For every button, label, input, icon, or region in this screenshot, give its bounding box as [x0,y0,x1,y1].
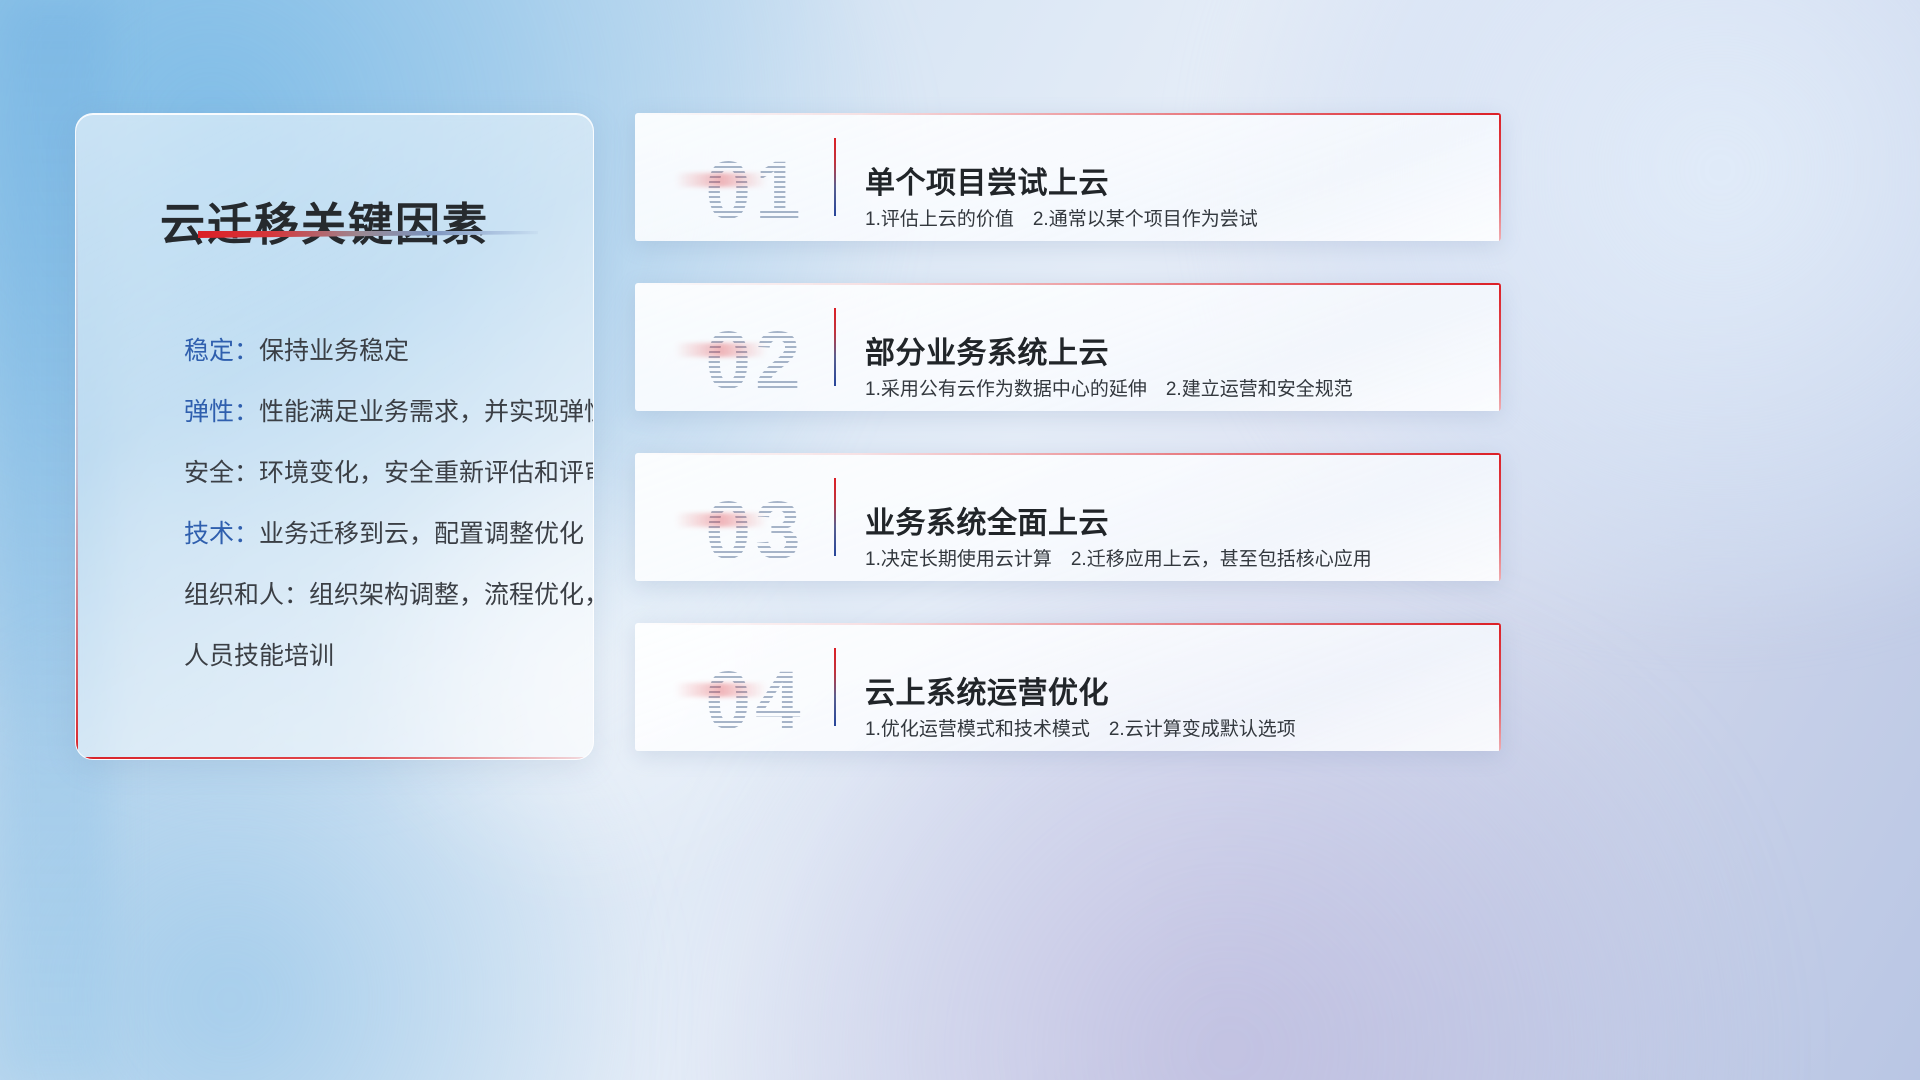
factor-text: 业务迁移到云，配置调整优化 [259,520,584,548]
card-divider-bar [834,478,836,556]
card-right-accent-line [1499,453,1501,581]
card-number: 04 [679,651,831,751]
card-number-decoration: 03 [657,467,809,567]
factor-label: 安全： [184,459,259,487]
factor-row: 技术：业务迁移到云，配置调整优化 [184,504,567,565]
card-number-decoration: 04 [657,637,809,737]
card-divider-bar [834,648,836,726]
factor-text: 性能满足业务需求，并实现弹性 [259,398,594,426]
factor-label: 稳定： [184,337,259,365]
stage-card[interactable]: 03 业务系统全面上云 1.决定长期使用云计算 2.迁移应用上云，甚至包括核心应… [635,453,1501,581]
card-right-accent-line [1499,283,1501,411]
card-number: 03 [679,481,831,581]
factor-label: 弹性： [184,398,259,426]
stage-card[interactable]: 01 单个项目尝试上云 1.评估上云的价值 2.通常以某个项目作为尝试 [635,113,1501,241]
card-number: 01 [679,141,831,241]
factor-text: 人员技能培训 [184,642,334,670]
card-right-accent-line [1499,623,1501,751]
stage-card[interactable]: 02 部分业务系统上云 1.采用公有云作为数据中心的延伸 2.建立运营和安全规范 [635,283,1501,411]
card-number: 02 [679,311,831,411]
stage-card[interactable]: 04 云上系统运营优化 1.优化运营模式和技术模式 2.云计算变成默认选项 [635,623,1501,751]
factor-row: 稳定：保持业务稳定 [184,321,567,382]
migration-stage-card-list: 01 单个项目尝试上云 1.评估上云的价值 2.通常以某个项目作为尝试 02 部… [635,113,1501,751]
factor-row: 安全：环境变化，安全重新评估和评审 [184,443,567,504]
card-description: 1.采用公有云作为数据中心的延伸 2.建立运营和安全规范 [865,374,1353,401]
factor-row: 人员技能培训 [184,626,567,687]
card-right-accent-line [1499,113,1501,241]
card-heading: 部分业务系统上云 [865,328,1109,372]
factor-label: 技术： [184,520,259,548]
key-factors-panel: 云迁移关键因素 稳定：保持业务稳定 弹性：性能满足业务需求，并实现弹性 安全：环… [75,113,594,760]
card-divider-bar [834,138,836,216]
card-top-accent-line [635,623,1501,625]
card-description: 1.优化运营模式和技术模式 2.云计算变成默认选项 [865,714,1296,741]
card-description: 1.决定长期使用云计算 2.迁移应用上云，甚至包括核心应用 [865,544,1372,571]
factor-text: 保持业务稳定 [259,337,409,365]
factor-text: 组织架构调整，流程优化， [309,581,594,609]
panel-title: 云迁移关键因素 [160,188,489,253]
card-top-accent-line [635,113,1501,115]
card-heading: 单个项目尝试上云 [865,158,1109,202]
card-top-accent-line [635,453,1501,455]
card-top-accent-line [635,283,1501,285]
factor-list: 稳定：保持业务稳定 弹性：性能满足业务需求，并实现弹性 安全：环境变化，安全重新… [184,321,567,687]
card-heading: 业务系统全面上云 [865,498,1109,542]
card-heading: 云上系统运营优化 [865,668,1109,712]
card-number-decoration: 01 [657,127,809,227]
card-description: 1.评估上云的价值 2.通常以某个项目作为尝试 [865,204,1258,231]
card-number-decoration: 02 [657,297,809,397]
factor-label: 组织和人： [184,581,309,609]
factor-text: 环境变化，安全重新评估和评审 [259,459,594,487]
factor-row: 弹性：性能满足业务需求，并实现弹性 [184,382,567,443]
card-divider-bar [834,308,836,386]
factor-row: 组织和人：组织架构调整，流程优化， [184,565,567,626]
